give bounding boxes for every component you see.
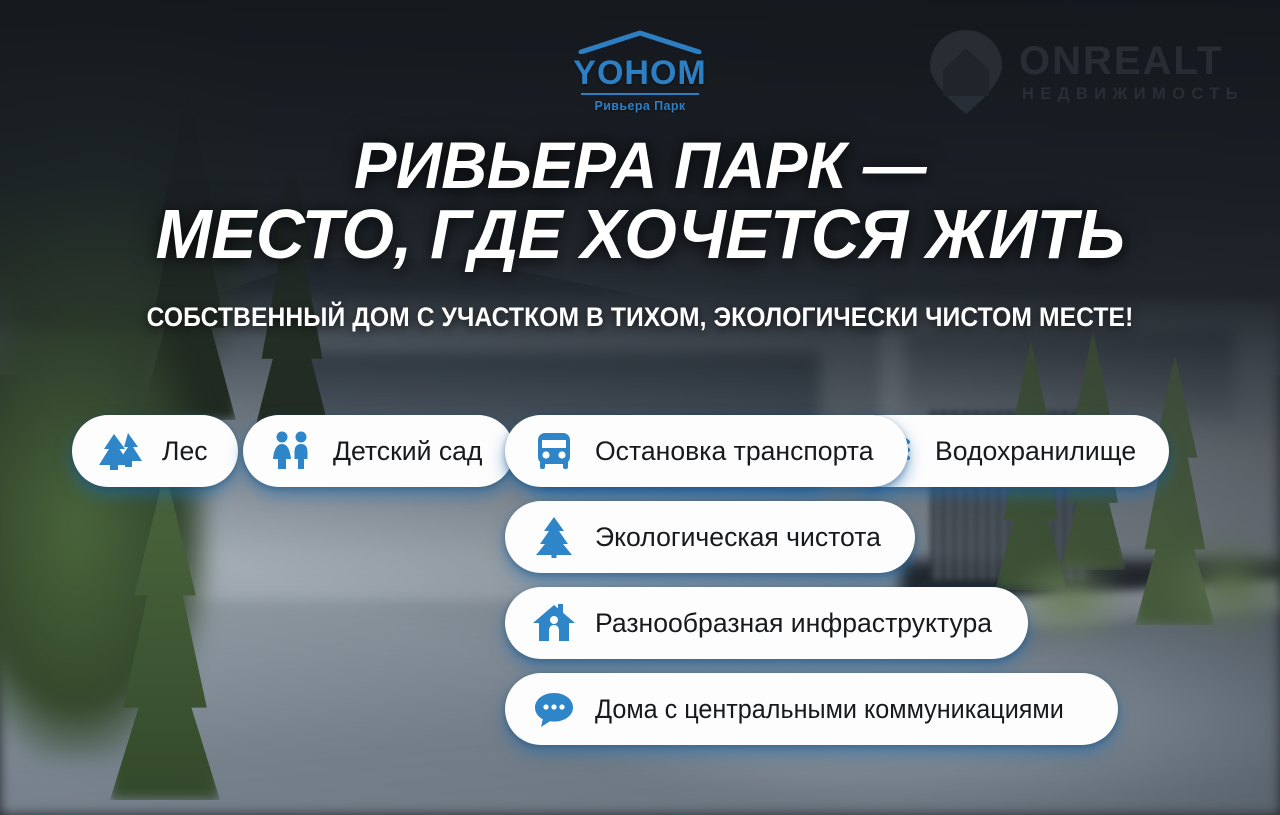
feature-pill-ecology[interactable]: Экологическая чистота: [505, 501, 915, 573]
feature-label: Остановка транспорта: [595, 436, 873, 467]
map-pin-house-icon: [927, 28, 1005, 116]
headline-line-1: РИВЬЕРА ПАРК —: [354, 128, 926, 202]
feature-pill-forest[interactable]: Лес: [72, 415, 238, 487]
feature-pill-kindergarten[interactable]: Детский сад: [243, 415, 515, 487]
two-trees-icon: [98, 428, 144, 474]
house-roof-icon: [577, 30, 703, 54]
feature-label: Экологическая чистота: [595, 522, 881, 553]
feature-label: Разнообразная инфраструктура: [595, 608, 992, 639]
feature-pill-infrastructure[interactable]: Разнообразная инфраструктура: [505, 587, 1028, 659]
feature-label: Дома с центральными коммуникациями: [595, 694, 1064, 725]
fir-tree-icon: [531, 514, 577, 560]
bus-icon: [531, 428, 577, 474]
feature-pill-utilities[interactable]: Дома с центральными коммуникациями: [505, 673, 1118, 745]
house-person-icon: [531, 600, 577, 646]
speech-bubble-icon: [531, 686, 577, 732]
watermark: ONREALT НЕДВИЖИМОСТЬ: [927, 28, 1244, 116]
page-subtitle: СОБСТВЕННЫЙ ДОМ С УЧАСТКОМ В ТИХОМ, ЭКОЛ…: [45, 302, 1235, 333]
brand-divider: [581, 93, 699, 95]
two-children-icon: [269, 428, 315, 474]
headline-line-2: МЕСТО, ГДЕ ХОЧЕТСЯ ЖИТЬ: [22, 201, 1257, 269]
feature-label: Лес: [162, 436, 208, 467]
page-title: РИВЬЕРА ПАРК — МЕСТО, ГДЕ ХОЧЕТСЯ ЖИТЬ: [22, 133, 1257, 269]
feature-pill-transport-stop[interactable]: Остановка транспорта: [505, 415, 908, 487]
watermark-main-text: ONREALT: [1019, 41, 1244, 81]
feature-column-right: Остановка транспорта Экологическая чисто…: [505, 415, 1280, 759]
watermark-sub-text: НЕДВИЖИМОСТЬ: [1022, 86, 1244, 103]
feature-label: Детский сад: [333, 436, 482, 467]
